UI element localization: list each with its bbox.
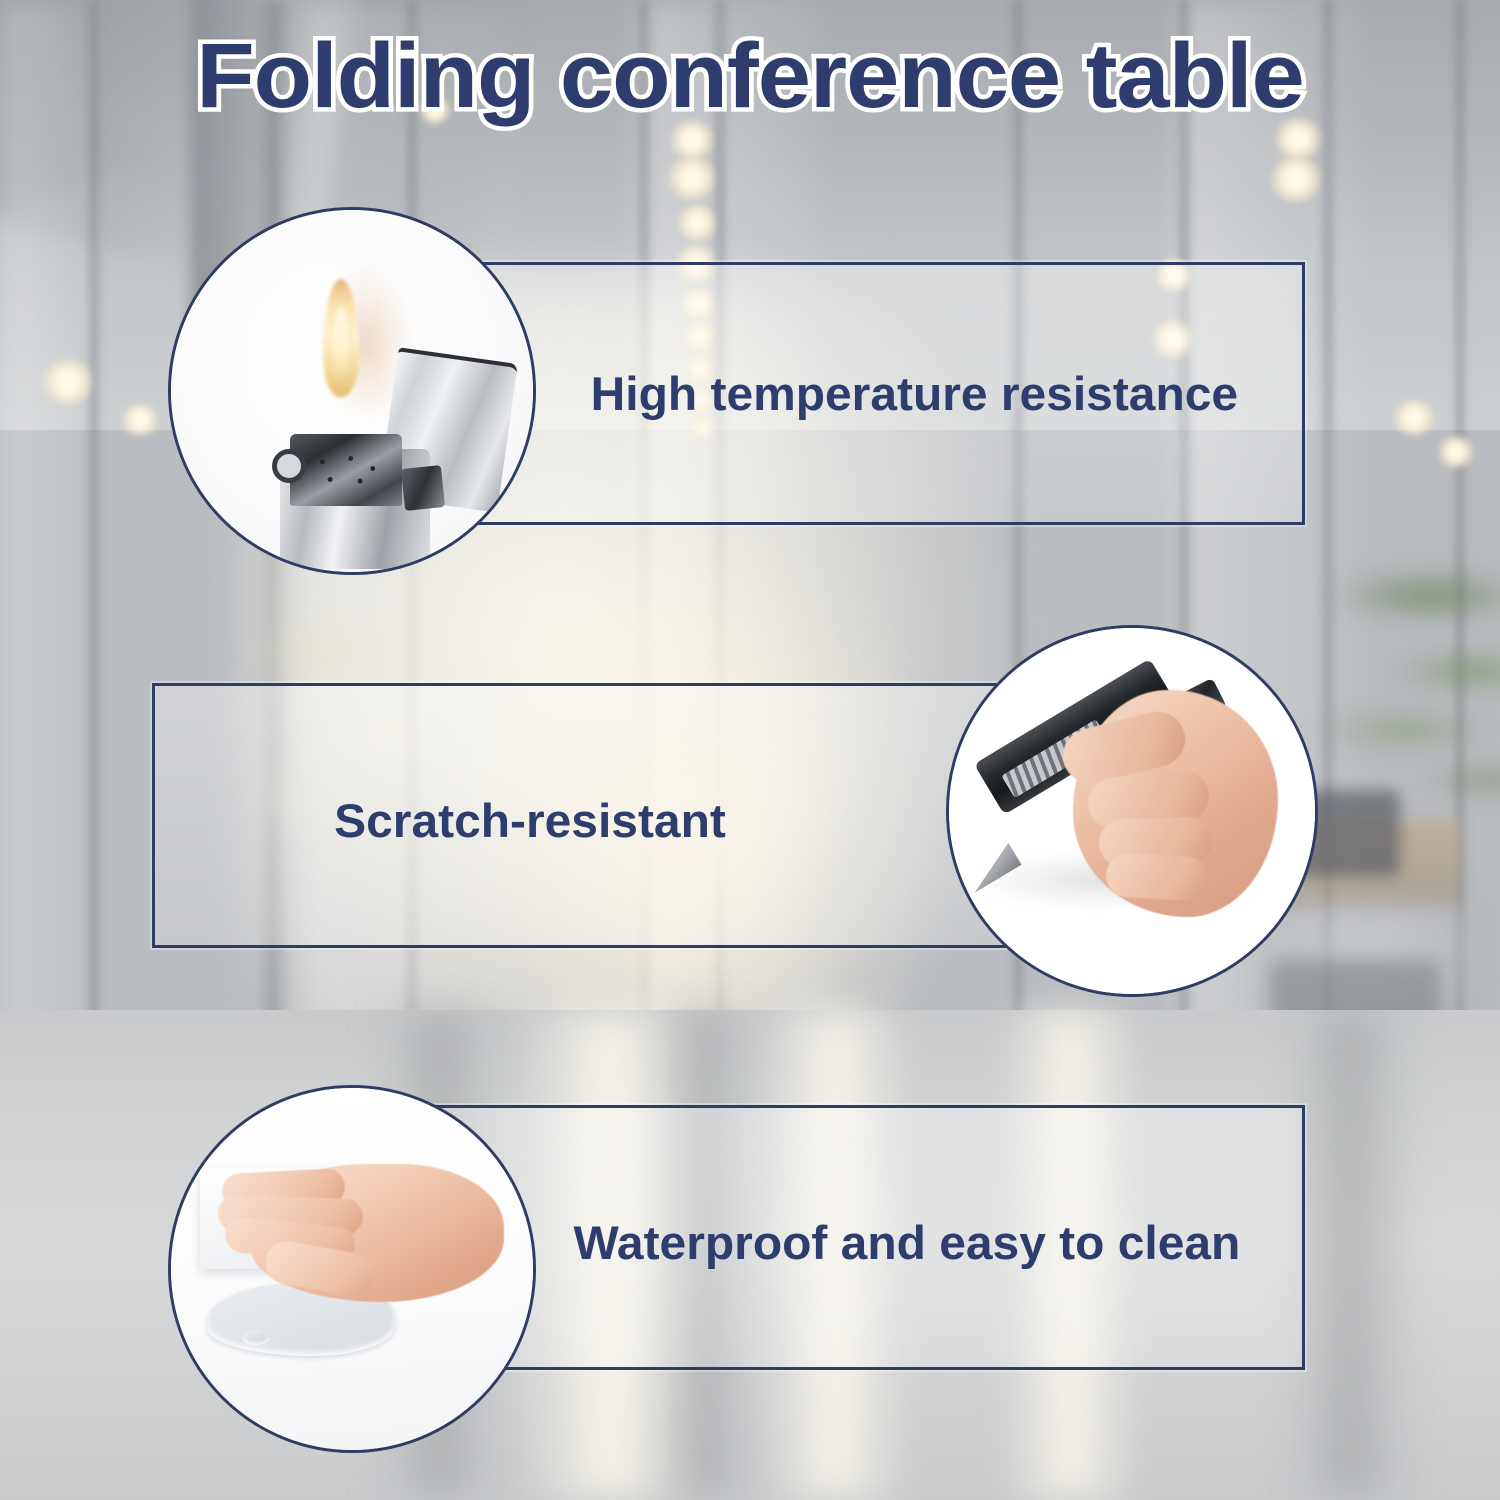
lighter-photo <box>171 210 533 572</box>
feature-label-high-temperature-resistance: High temperature resistance <box>591 366 1238 421</box>
lighter-insert <box>290 434 402 506</box>
page-title: Folding conference table <box>0 24 1500 129</box>
feature-label-waterproof-and-easy-to-clean: Waterproof and easy to clean <box>573 1215 1240 1270</box>
lighter-hinge <box>401 465 445 511</box>
water-droplet <box>243 1331 268 1345</box>
finger <box>1105 852 1210 901</box>
feature-image-high-temperature-resistance <box>168 207 536 575</box>
wiping-hand-photo <box>171 1088 533 1450</box>
feature-label-scratch-resistant: Scratch-resistant <box>334 793 726 848</box>
feature-image-waterproof-and-easy-to-clean <box>168 1085 536 1453</box>
box-cutter-photo <box>949 628 1315 994</box>
feature-image-scratch-resistant <box>946 625 1318 997</box>
